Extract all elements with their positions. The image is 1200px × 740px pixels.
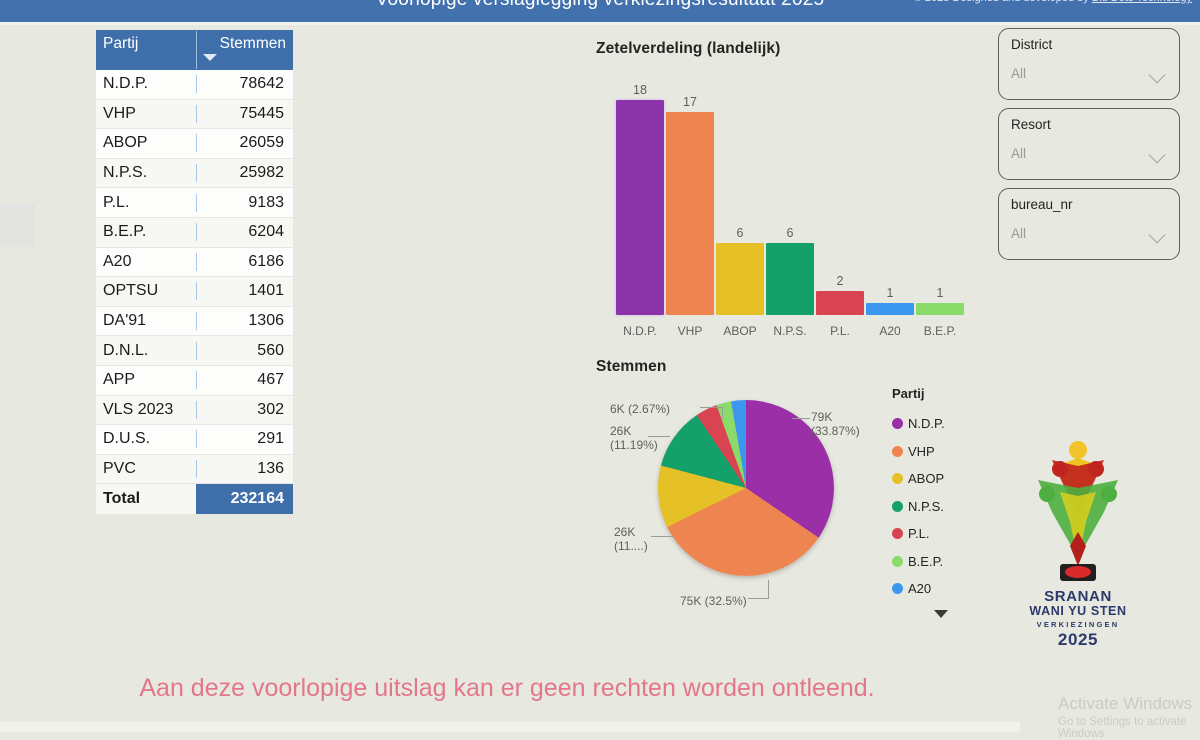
leader-ndp (792, 418, 810, 419)
slicer-bureau_nr[interactable]: bureau_nrAll (998, 188, 1180, 260)
pie-label-ndp-line2: (33.87%) (811, 424, 860, 438)
pie-label-bep: 6K (2.67%) (610, 402, 670, 416)
cell-stemmen: 6204 (196, 223, 293, 241)
table-row[interactable]: PVC136 (96, 455, 293, 485)
bar-group: 1B.E.P. (916, 100, 964, 315)
pie-label-abop: 26K (11....) (614, 525, 648, 553)
bar-value-label: 6 (766, 226, 814, 240)
bar[interactable] (766, 243, 814, 315)
cell-stemmen: 1401 (196, 282, 293, 300)
slicer-label: Resort (1011, 117, 1051, 132)
pie-label-ndp-line1: 79K (811, 410, 860, 424)
table-row[interactable]: D.U.S.291 (96, 425, 293, 455)
table-row[interactable]: VHP75445 (96, 100, 293, 130)
legend-swatch-icon (892, 501, 903, 512)
cell-partij: D.N.L. (96, 342, 196, 360)
app-header: Voorlopige verslaglegging verkiezingsres… (0, 0, 1200, 22)
pie-label-vhp: 75K (32.5%) (680, 594, 747, 608)
cell-stemmen: 6186 (196, 253, 293, 271)
column-header-stemmen-label: Stemmen (220, 35, 286, 52)
legend-item[interactable]: B.E.P. (892, 548, 992, 576)
cell-stemmen: 1306 (196, 312, 293, 330)
slicer-value: All (1011, 146, 1026, 161)
table-row[interactable]: VLS 2023302 (96, 396, 293, 426)
watermark-line-2: Go to Settings to activate Windows. (1058, 716, 1200, 740)
table-row[interactable]: B.E.P.6204 (96, 218, 293, 248)
slicer-panel: DistrictAllResortAllbureau_nrAll (998, 28, 1180, 268)
pie-label-ndp: 79K (33.87%) (811, 410, 860, 438)
table-body: N.D.P.78642VHP75445ABOP26059N.P.S.25982P… (96, 70, 293, 484)
cell-partij: D.U.S. (96, 430, 196, 448)
logo-line-2: WANI YU STEN (1022, 604, 1134, 618)
votes-table[interactable]: Partij Stemmen N.D.P.78642VHP75445ABOP26… (96, 30, 293, 514)
legend-swatch-icon (892, 556, 903, 567)
cell-stemmen: 25982 (196, 164, 293, 182)
bar-group: 2P.L. (816, 100, 864, 315)
cell-partij: VLS 2023 (96, 401, 196, 419)
slicer-value: All (1011, 66, 1026, 81)
header-divider (0, 22, 1200, 25)
footer-divider (0, 722, 1020, 732)
legend-swatch-icon (892, 418, 903, 429)
total-value[interactable]: 232164 (196, 484, 293, 514)
clipped-side-panel (0, 203, 35, 247)
legend-scroll-down-icon[interactable] (934, 610, 948, 618)
table-header-row: Partij Stemmen (96, 30, 293, 70)
leader-nps (648, 436, 670, 437)
table-row[interactable]: N.D.P.78642 (96, 70, 293, 100)
pie-label-abop-line2: (11....) (614, 539, 648, 553)
bar-value-label: 1 (866, 286, 914, 300)
table-row[interactable]: ABOP26059 (96, 129, 293, 159)
cell-partij: ABOP (96, 134, 196, 152)
legend-swatch-icon (892, 583, 903, 594)
logo-line-1: SRANAN (1022, 588, 1134, 605)
pie-chart-title: Stemmen (596, 358, 666, 376)
legend-swatch-icon (892, 446, 903, 457)
slicer-label: District (1011, 37, 1052, 52)
slicer-district[interactable]: DistrictAll (998, 28, 1180, 100)
legend-label: ABOP (908, 471, 944, 486)
legend-title: Partij (892, 386, 992, 401)
cell-stemmen: 560 (196, 342, 293, 360)
pie-label-nps: 26K (11.19%) (610, 424, 658, 452)
chevron-down-icon[interactable] (1149, 67, 1166, 84)
slicer-label: bureau_nr (1011, 197, 1073, 212)
cell-partij: N.D.P. (96, 75, 196, 93)
legend-item[interactable]: VHP (892, 438, 992, 466)
table-row[interactable]: A206186 (96, 248, 293, 278)
windows-activation-watermark: Activate Windows Go to Settings to activ… (1058, 694, 1200, 740)
bar-chart-plot-area: 18N.D.P.17VHP6ABOP6N.P.S.2P.L.1A201B.E.P… (608, 70, 964, 345)
pie-label-nps-line2: (11.19%) (610, 438, 658, 452)
bar[interactable] (916, 303, 964, 315)
legend-item[interactable]: A20 (892, 575, 992, 603)
bar[interactable] (816, 291, 864, 315)
logo-line-3: VERKIEZINGEN (1022, 620, 1134, 629)
bar-value-label: 17 (666, 95, 714, 109)
legend-items: N.D.P.VHPABOPN.P.S.P.L.B.E.P.A20 (892, 410, 992, 603)
cell-stemmen: 9183 (196, 194, 293, 212)
bar-value-label: 18 (616, 83, 664, 97)
table-row[interactable]: N.P.S.25982 (96, 159, 293, 189)
disclaimer-text: Aan deze voorlopige uitslag kan er geen … (0, 674, 1022, 703)
bar[interactable] (716, 243, 764, 315)
leader-abop (651, 536, 673, 537)
cell-partij: A20 (96, 253, 196, 271)
cell-partij: B.E.P. (96, 223, 196, 241)
bar-group: 18N.D.P. (616, 100, 664, 315)
cell-stemmen: 78642 (196, 75, 293, 93)
bar-category-label: B.E.P. (910, 324, 970, 338)
legend-item[interactable]: N.P.S. (892, 493, 992, 521)
table-row[interactable]: DA'911306 (96, 307, 293, 337)
cell-stemmen: 75445 (196, 105, 293, 123)
legend-item[interactable]: P.L. (892, 520, 992, 548)
slicer-resort[interactable]: ResortAll (998, 108, 1180, 180)
legend-label: VHP (908, 444, 935, 459)
bar-group: 1A20 (866, 100, 914, 315)
legend-swatch-icon (892, 473, 903, 484)
table-row[interactable]: APP467 (96, 366, 293, 396)
credit-brand-link[interactable]: Blu Dots Technology (1092, 0, 1192, 4)
logo-figure-icon (1022, 436, 1134, 586)
total-label: Total (96, 490, 196, 508)
column-header-partij[interactable]: Partij (97, 31, 196, 69)
cell-partij: P.L. (96, 194, 196, 212)
bar-group: 17VHP (666, 100, 714, 315)
slicer-value: All (1011, 226, 1026, 241)
leader-vhp-vert (768, 580, 769, 599)
bar[interactable] (666, 112, 714, 315)
seat-distribution-chart[interactable]: Zetelverdeling (landelijk) 18N.D.P.17VHP… (596, 40, 976, 335)
bar[interactable] (866, 303, 914, 315)
column-header-stemmen[interactable]: Stemmen (196, 31, 292, 69)
bar-chart-title: Zetelverdeling (landelijk) (596, 40, 780, 58)
bar-value-label: 1 (916, 286, 964, 300)
logo-line-4: 2025 (1022, 630, 1134, 650)
bar[interactable] (616, 100, 664, 315)
cell-stemmen: 291 (196, 430, 293, 448)
legend-swatch-icon (892, 528, 903, 539)
legend-label: N.D.P. (908, 416, 945, 431)
legend-label: A20 (908, 581, 931, 596)
cell-partij: N.P.S. (96, 164, 196, 182)
table-total-row: Total 232164 (96, 484, 293, 514)
table-row[interactable]: D.N.L.560 (96, 336, 293, 366)
pie-label-abop-line1: 26K (614, 525, 648, 539)
cell-partij: PVC (96, 460, 196, 478)
cell-stemmen: 467 (196, 371, 293, 389)
votes-pie-chart[interactable]: Stemmen 79K (33.87%) 75K (32.5%) 26K (11… (596, 358, 996, 633)
bar-group: 6ABOP (716, 100, 764, 315)
cell-stemmen: 302 (196, 401, 293, 419)
credit-prefix: © 2025 Designed and developed by (914, 0, 1092, 4)
leader-bep-vert (722, 407, 723, 419)
pie-legend: Partij N.D.P.VHPABOPN.P.S.P.L.B.E.P.A20 (892, 386, 992, 603)
legend-item[interactable]: ABOP (892, 465, 992, 493)
leader-vhp (748, 598, 768, 599)
chevron-down-icon[interactable] (1149, 147, 1166, 164)
bar-group: 6N.P.S. (766, 100, 814, 315)
legend-item[interactable]: N.D.P. (892, 410, 992, 438)
sort-descending-icon (203, 54, 217, 61)
cell-stemmen: 136 (196, 460, 293, 478)
cell-partij: DA'91 (96, 312, 196, 330)
leader-bep (700, 407, 722, 408)
election-logo: SRANAN WANI YU STEN VERKIEZINGEN 2025 (1022, 436, 1134, 666)
chevron-down-icon[interactable] (1149, 227, 1166, 244)
legend-label: N.P.S. (908, 499, 944, 514)
table-row[interactable]: OPTSU1401 (96, 277, 293, 307)
pie-disc[interactable] (658, 400, 834, 576)
cell-partij: VHP (96, 105, 196, 123)
watermark-line-1: Activate Windows (1058, 694, 1200, 714)
cell-partij: OPTSU (96, 282, 196, 300)
legend-label: B.E.P. (908, 554, 943, 569)
legend-label: P.L. (908, 526, 929, 541)
cell-stemmen: 26059 (196, 134, 293, 152)
bar-value-label: 2 (816, 274, 864, 288)
copyright-credit: © 2025 Designed and developed by Blu Dot… (914, 0, 1192, 4)
cell-partij: APP (96, 371, 196, 389)
bar-value-label: 6 (716, 226, 764, 240)
table-row[interactable]: P.L.9183 (96, 188, 293, 218)
